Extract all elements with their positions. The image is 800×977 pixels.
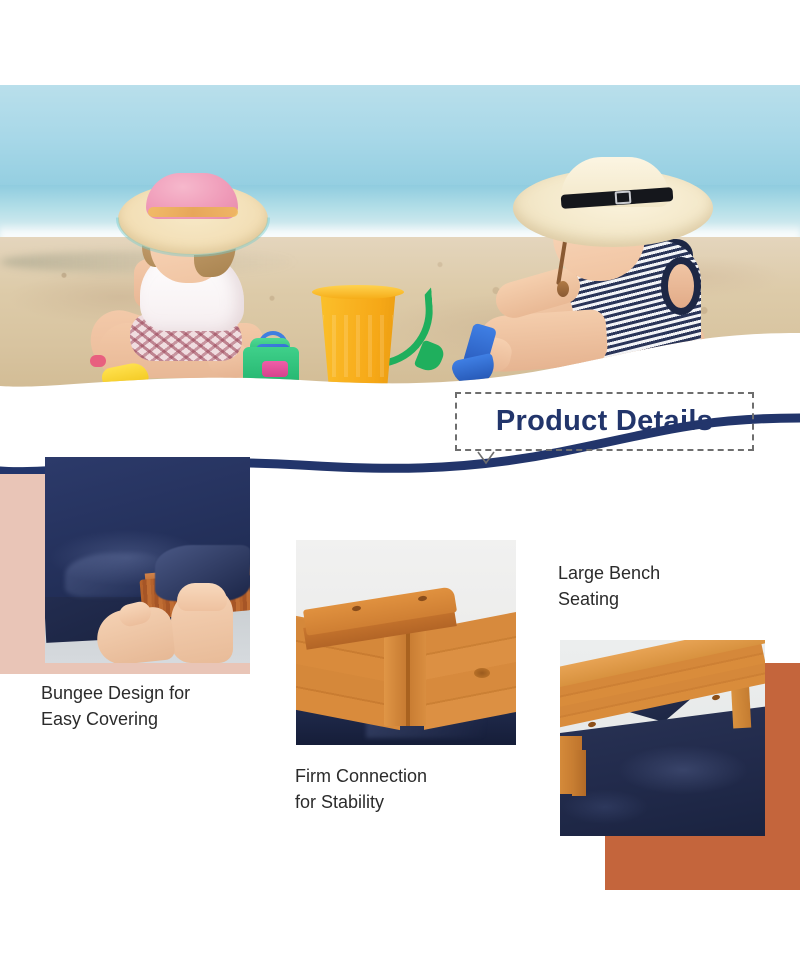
wood-knot (474, 668, 490, 678)
bucket-rim (312, 285, 404, 299)
right-child-hat-bead (557, 281, 569, 297)
pink-sand-toy (90, 355, 106, 367)
feature-caption-bungee-design: Bungee Design for Easy Covering (41, 680, 190, 732)
decor-block-orange-horizontal (605, 835, 800, 890)
beach-mat (636, 361, 758, 390)
bucket-ridges (320, 315, 396, 377)
feature-caption-firm-connection: Firm Connection for Stability (295, 763, 427, 815)
corner-post-edge (406, 618, 410, 726)
feature-image-large-bench-seating (560, 640, 765, 836)
right-child-arm-hole (661, 257, 701, 315)
pink-toy-panel (262, 361, 288, 377)
page-title: Product Details (496, 405, 713, 438)
right-child (465, 171, 755, 390)
hero-image (0, 85, 800, 390)
product-details-header: Product Details (455, 392, 754, 451)
feature-image-firm-connection (296, 540, 516, 745)
left-child-hat-band (148, 207, 238, 217)
chevron-down-icon (476, 451, 496, 465)
right-child-hat-buckle (615, 190, 632, 204)
product-details-page: Product Details Bungee Design for Easy C… (0, 0, 800, 977)
hero-banner (0, 85, 800, 390)
feature-image-bungee-design (45, 457, 250, 663)
feature-caption-large-bench-seating: Large Bench Seating (558, 560, 660, 612)
bench-leg (572, 750, 586, 796)
right-hand-fingers (177, 583, 227, 611)
